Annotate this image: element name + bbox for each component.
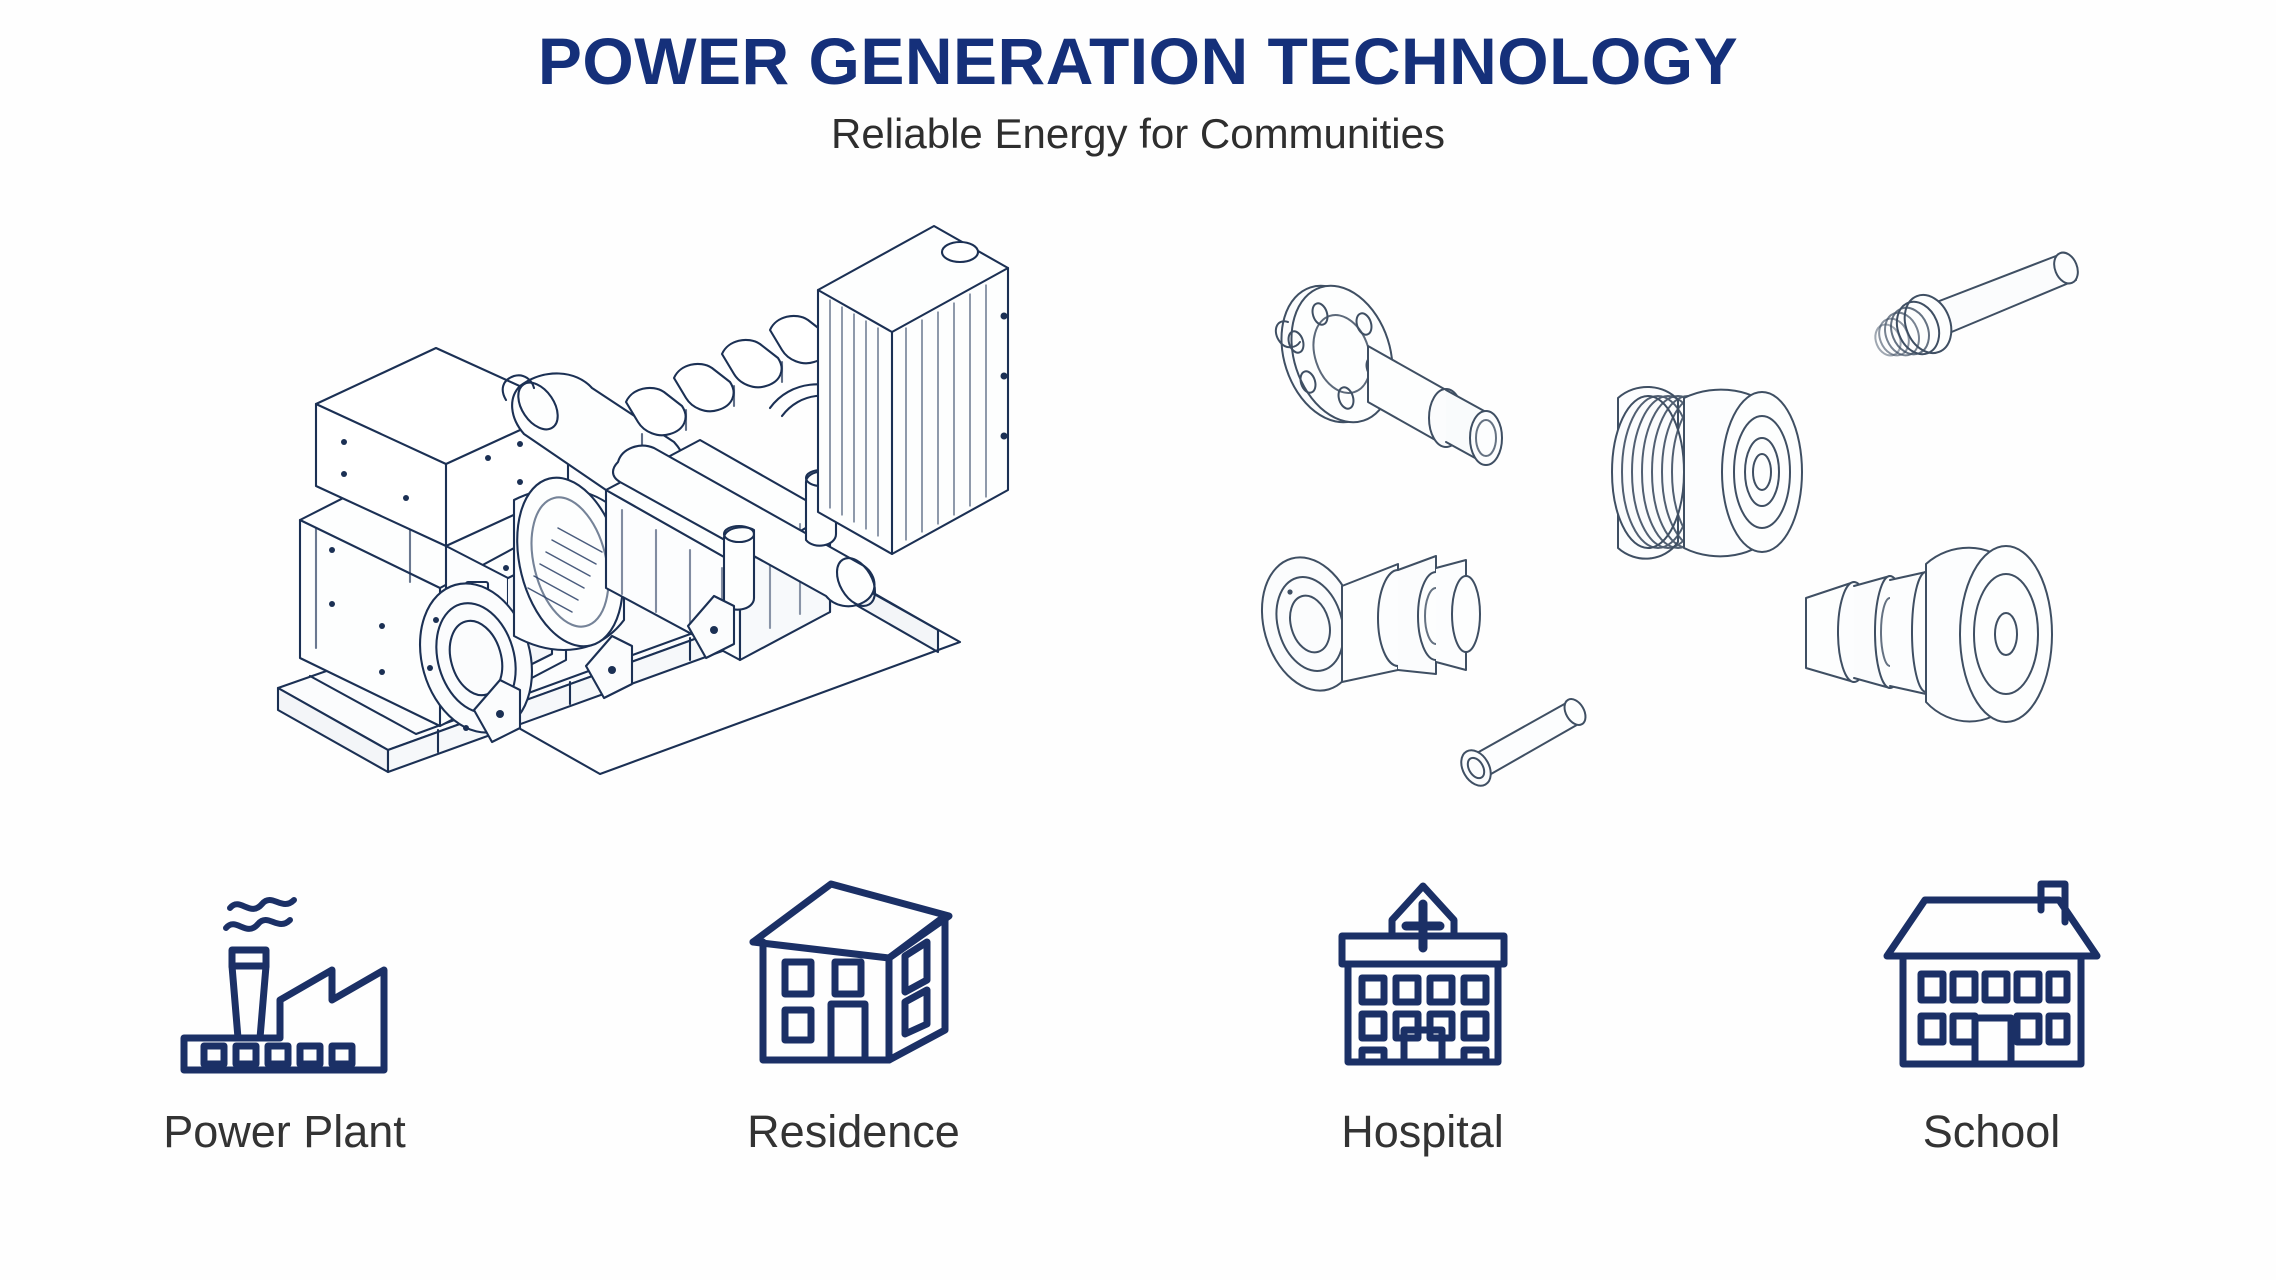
- page-subtitle: Reliable Energy for Communities: [0, 111, 2276, 157]
- icon-cell-power-plant[interactable]: Power Plant: [70, 870, 500, 1154]
- residence-icon: [739, 870, 969, 1085]
- consumer-icon-row: Power Plant Residence: [0, 870, 2276, 1154]
- exploded-mechanical-parts-illustration: [1250, 250, 2090, 810]
- stepped-shaft-with-disc: [1806, 546, 2052, 722]
- cylinder-heads: [626, 316, 830, 452]
- icon-cell-school[interactable]: School: [1777, 870, 2207, 1154]
- icon-label-hospital: Hospital: [1341, 1109, 1504, 1154]
- infographic-page: POWER GENERATION TECHNOLOGY Reliable Ene…: [0, 0, 2276, 1280]
- tapered-bushing-left: [1250, 546, 1480, 702]
- page-title: POWER GENERATION TECHNOLOGY: [0, 26, 2276, 97]
- dowel-pin: [1455, 695, 1590, 791]
- diesel-generator-set-illustration: [270, 190, 1010, 810]
- icon-cell-residence[interactable]: Residence: [639, 870, 1069, 1154]
- bolted-flange-hub: [1265, 273, 1502, 465]
- icon-label-power-plant: Power Plant: [163, 1109, 406, 1154]
- school-icon: [1877, 870, 2107, 1085]
- hospital-icon: [1308, 870, 1538, 1085]
- power-plant-icon: [170, 870, 400, 1085]
- icon-label-residence: Residence: [747, 1109, 960, 1154]
- icon-label-school: School: [1923, 1109, 2061, 1154]
- radiator-core: [818, 226, 1008, 554]
- icon-cell-hospital[interactable]: Hospital: [1208, 870, 1638, 1154]
- ribbed-finned-drum: [1612, 387, 1802, 559]
- threaded-rod-sleeve: [1871, 250, 2082, 401]
- header: POWER GENERATION TECHNOLOGY Reliable Ene…: [0, 0, 2276, 157]
